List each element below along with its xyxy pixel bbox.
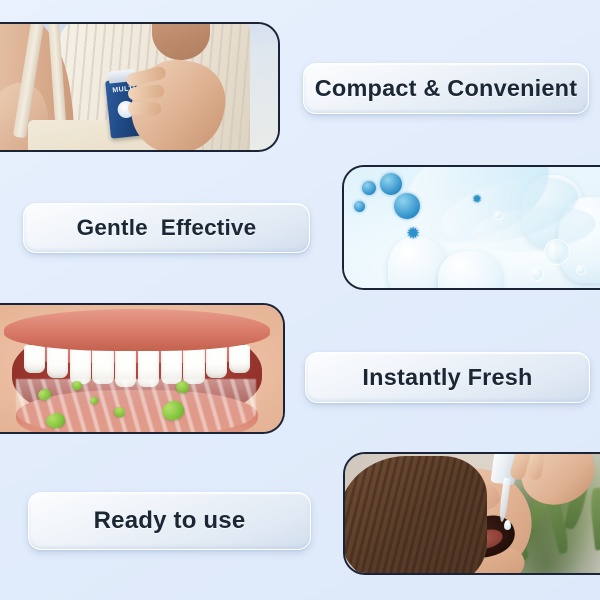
germ-star-icon: ✹ (406, 225, 420, 242)
liquid-drop (504, 520, 511, 530)
tooth (47, 345, 68, 378)
germ-particle-icon (354, 201, 365, 212)
feature-pill-fresh[interactable]: Instantly Fresh (305, 352, 590, 403)
bubble (530, 267, 544, 281)
germ-particle-icon (394, 193, 420, 219)
feature-label: Compact & Convenient (315, 75, 578, 102)
germ-particle-icon (362, 181, 376, 195)
feature-pill-gentle[interactable]: Gentle Effective (23, 203, 310, 253)
hair (343, 456, 487, 575)
feature-label: Instantly Fresh (362, 364, 532, 391)
finger (128, 101, 161, 115)
woman-using-dropper-photo (343, 452, 600, 575)
feature-pill-compact[interactable]: Compact & Convenient (303, 63, 589, 114)
feature-label: Gentle Effective (77, 215, 257, 241)
tooth (24, 345, 45, 373)
woman-holding-product-photo: MULTI (0, 22, 280, 152)
tooth (183, 345, 204, 384)
tooth (206, 345, 227, 378)
bubble (544, 239, 570, 265)
upper-lip (4, 309, 270, 351)
teeth-water-germs-photo: ✹ ✹ (342, 165, 600, 290)
tooth-3d (438, 251, 502, 290)
feature-pill-ready[interactable]: Ready to use (28, 492, 311, 550)
germ-star-icon: ✹ (472, 193, 482, 205)
tooth (70, 345, 91, 384)
bubble (494, 211, 503, 220)
tooth (229, 345, 250, 373)
bubble (576, 265, 586, 275)
feature-label: Ready to use (94, 507, 246, 535)
germ-particle-icon (380, 173, 402, 195)
smile-closeup-mint-photo (0, 303, 285, 434)
